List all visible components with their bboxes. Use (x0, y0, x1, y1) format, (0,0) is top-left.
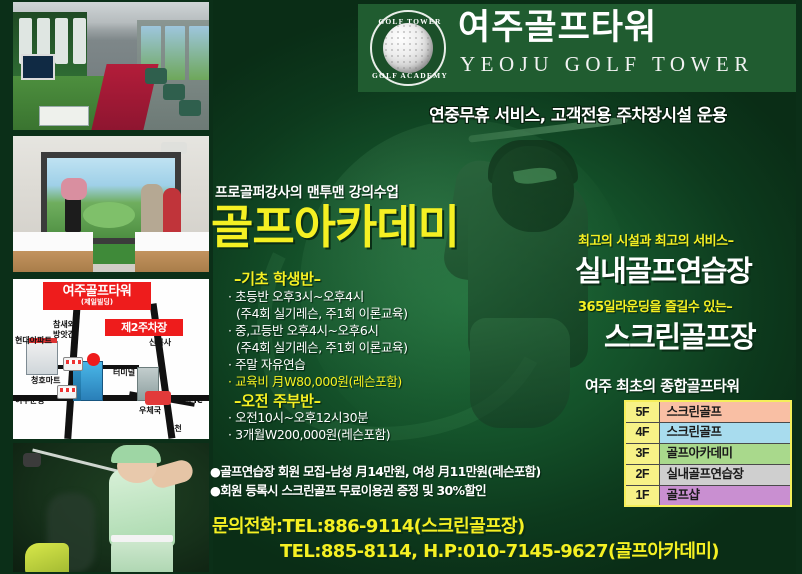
map-store-icon-2 (57, 385, 77, 399)
map-post-office-icon (145, 391, 171, 405)
map-label-icheon: 이천 (167, 425, 182, 433)
list-item: 3개월W200,000원(레슨포함) (228, 426, 390, 443)
floor-number: 3F (625, 443, 659, 464)
map-label-hyundai-apt: 현대아파트 (15, 337, 52, 345)
map-label-terminal: 터미널 (113, 369, 135, 377)
map-location-marker (87, 353, 100, 366)
floor-number: 2F (625, 464, 659, 485)
driving-range-title: 실내골프연습장 (575, 248, 751, 290)
academy-subheading: 프로골퍼강사의 맨투맨 강의수업 (215, 182, 399, 202)
table-row: 4F 스크린골프 (625, 422, 791, 443)
promo-line-1: ●골프연습장 회원 모집–남성 月14만원, 여성 月11만원(레슨포함) (210, 461, 540, 480)
photo-column: 여주골프타워 (제일빌딩) 제2주차장 현대아파트 참새와 방앗간 청호마트 여… (0, 0, 213, 574)
brand-name-korean: 여주골프타워 (458, 11, 657, 46)
floor-name: 골프아카데미 (659, 443, 791, 464)
photo-screen-golf-room (13, 136, 209, 272)
map-banner-parking: 제2주차장 (105, 319, 183, 336)
screen-golf-subheading: 365일라운딩을 즐길수 있는– (578, 296, 732, 315)
map-label-chamsaewa: 참새와 (53, 321, 75, 329)
photo-golfer-swing (13, 443, 209, 572)
map-label-post-office: 우체국 (139, 407, 161, 415)
map-label-cheongho-mart: 청호마트 (31, 377, 60, 385)
table-row: 1F 골프샵 (625, 485, 791, 506)
tagline-text: 연중무휴 서비스, 고객전용 주차장시설 운용 (429, 101, 727, 126)
floor-number: 4F (625, 422, 659, 443)
student-section-list: 초등반 오후3시~오후4시 (주4회 실기레슨, 주1회 이론교육) 중,고등반… (228, 288, 408, 390)
list-item: (주4회 실기레슨, 주1회 이론교육) (228, 305, 408, 322)
floor-directory-body: 5F 스크린골프 4F 스크린골프 3F 골프아카데미 2F 실내골프연습장 1… (625, 401, 791, 506)
floor-number: 1F (625, 485, 659, 506)
screen-golf-title: 스크린골프장 (604, 314, 755, 356)
golf-tower-logo: GOLF TOWER GOLF ACADEMY (370, 10, 446, 86)
location-map: 여주골프타워 (제일빌딩) 제2주차장 현대아파트 참새와 방앗간 청호마트 여… (13, 279, 209, 439)
photo-indoor-driving-range (13, 2, 209, 130)
floor-directory-table: 5F 스크린골프 4F 스크린골프 3F 골프아카데미 2F 실내골프연습장 1… (624, 400, 792, 507)
floor-name: 실내골프연습장 (659, 464, 791, 485)
map-label-bangatgan: 방앗간 (53, 331, 75, 339)
floor-number: 5F (625, 401, 659, 422)
table-row: 2F 실내골프연습장 (625, 464, 791, 485)
brand-name-english: YEOJU GOLF TOWER (460, 54, 754, 75)
header-brand-bar: GOLF TOWER GOLF ACADEMY 여주골프타워 YEOJU GOL… (358, 4, 798, 92)
table-row: 3F 골프아카데미 (625, 443, 791, 464)
right-column-footer: 여주 최초의 종합골프타워 (585, 375, 739, 396)
map-building-apartment (26, 341, 58, 375)
map-banner-main-text: 여주골프타워 (63, 284, 132, 299)
floor-name: 스크린골프 (659, 422, 791, 443)
list-item: 중,고등반 오후4시~오후6시 (228, 322, 408, 339)
list-item: (주4회 실기레슨, 주1회 이론교육) (228, 339, 408, 356)
map-label-yeoju-ic: 여주IC (179, 397, 203, 405)
academy-title: 골프아카데미 (211, 204, 459, 250)
map-label-silleuksa: 신륵사 (149, 339, 171, 347)
driving-range-subheading: 최고의 시설과 최고의 서비스– (578, 230, 734, 249)
floor-name: 스크린골프 (659, 401, 791, 422)
map-banner-main-subtext: (제일빌딩) (43, 299, 151, 306)
list-item: 주말 자유연습 (228, 356, 408, 373)
morning-section-list: 오전10시~오후12시30분 3개월W200,000원(레슨포함) (228, 409, 390, 443)
promo-line-2: ●회원 등록시 스크린골프 무료이용권 증정 및 30%할인 (210, 480, 486, 499)
map-store-icon-1 (63, 357, 83, 371)
tagline-band: 연중무휴 서비스, 고객전용 주차장시설 운용 (358, 96, 798, 130)
table-row: 5F 스크린골프 (625, 401, 791, 422)
contact-phone-line-1[interactable]: 문의전화:TEL:886-9114(스크린골프장) (212, 512, 525, 538)
morning-section-heading: –오전 주부반– (234, 390, 321, 411)
list-item: 교육비 月W80,000원(레슨포함) (228, 373, 408, 390)
golf-ball-icon (383, 23, 433, 73)
floor-name: 골프샵 (659, 485, 791, 506)
student-section-heading: –기초 학생반– (234, 268, 321, 289)
right-edge-gutter (796, 0, 802, 574)
advertisement-poster: 여주골프타워 (제일빌딩) 제2주차장 현대아파트 참새와 방앗간 청호마트 여… (0, 0, 802, 574)
logo-bottom-text: GOLF ACADEMY (372, 71, 448, 80)
list-item: 초등반 오후3시~오후4시 (228, 288, 408, 305)
map-banner-main: 여주골프타워 (제일빌딩) (43, 282, 151, 310)
map-label-yeoju-office: 여주군청 (15, 397, 44, 405)
contact-phone-line-2[interactable]: TEL:885-8114, H.P:010-7145-9627(골프아카데미) (280, 537, 719, 563)
list-item: 오전10시~오후12시30분 (228, 409, 390, 426)
